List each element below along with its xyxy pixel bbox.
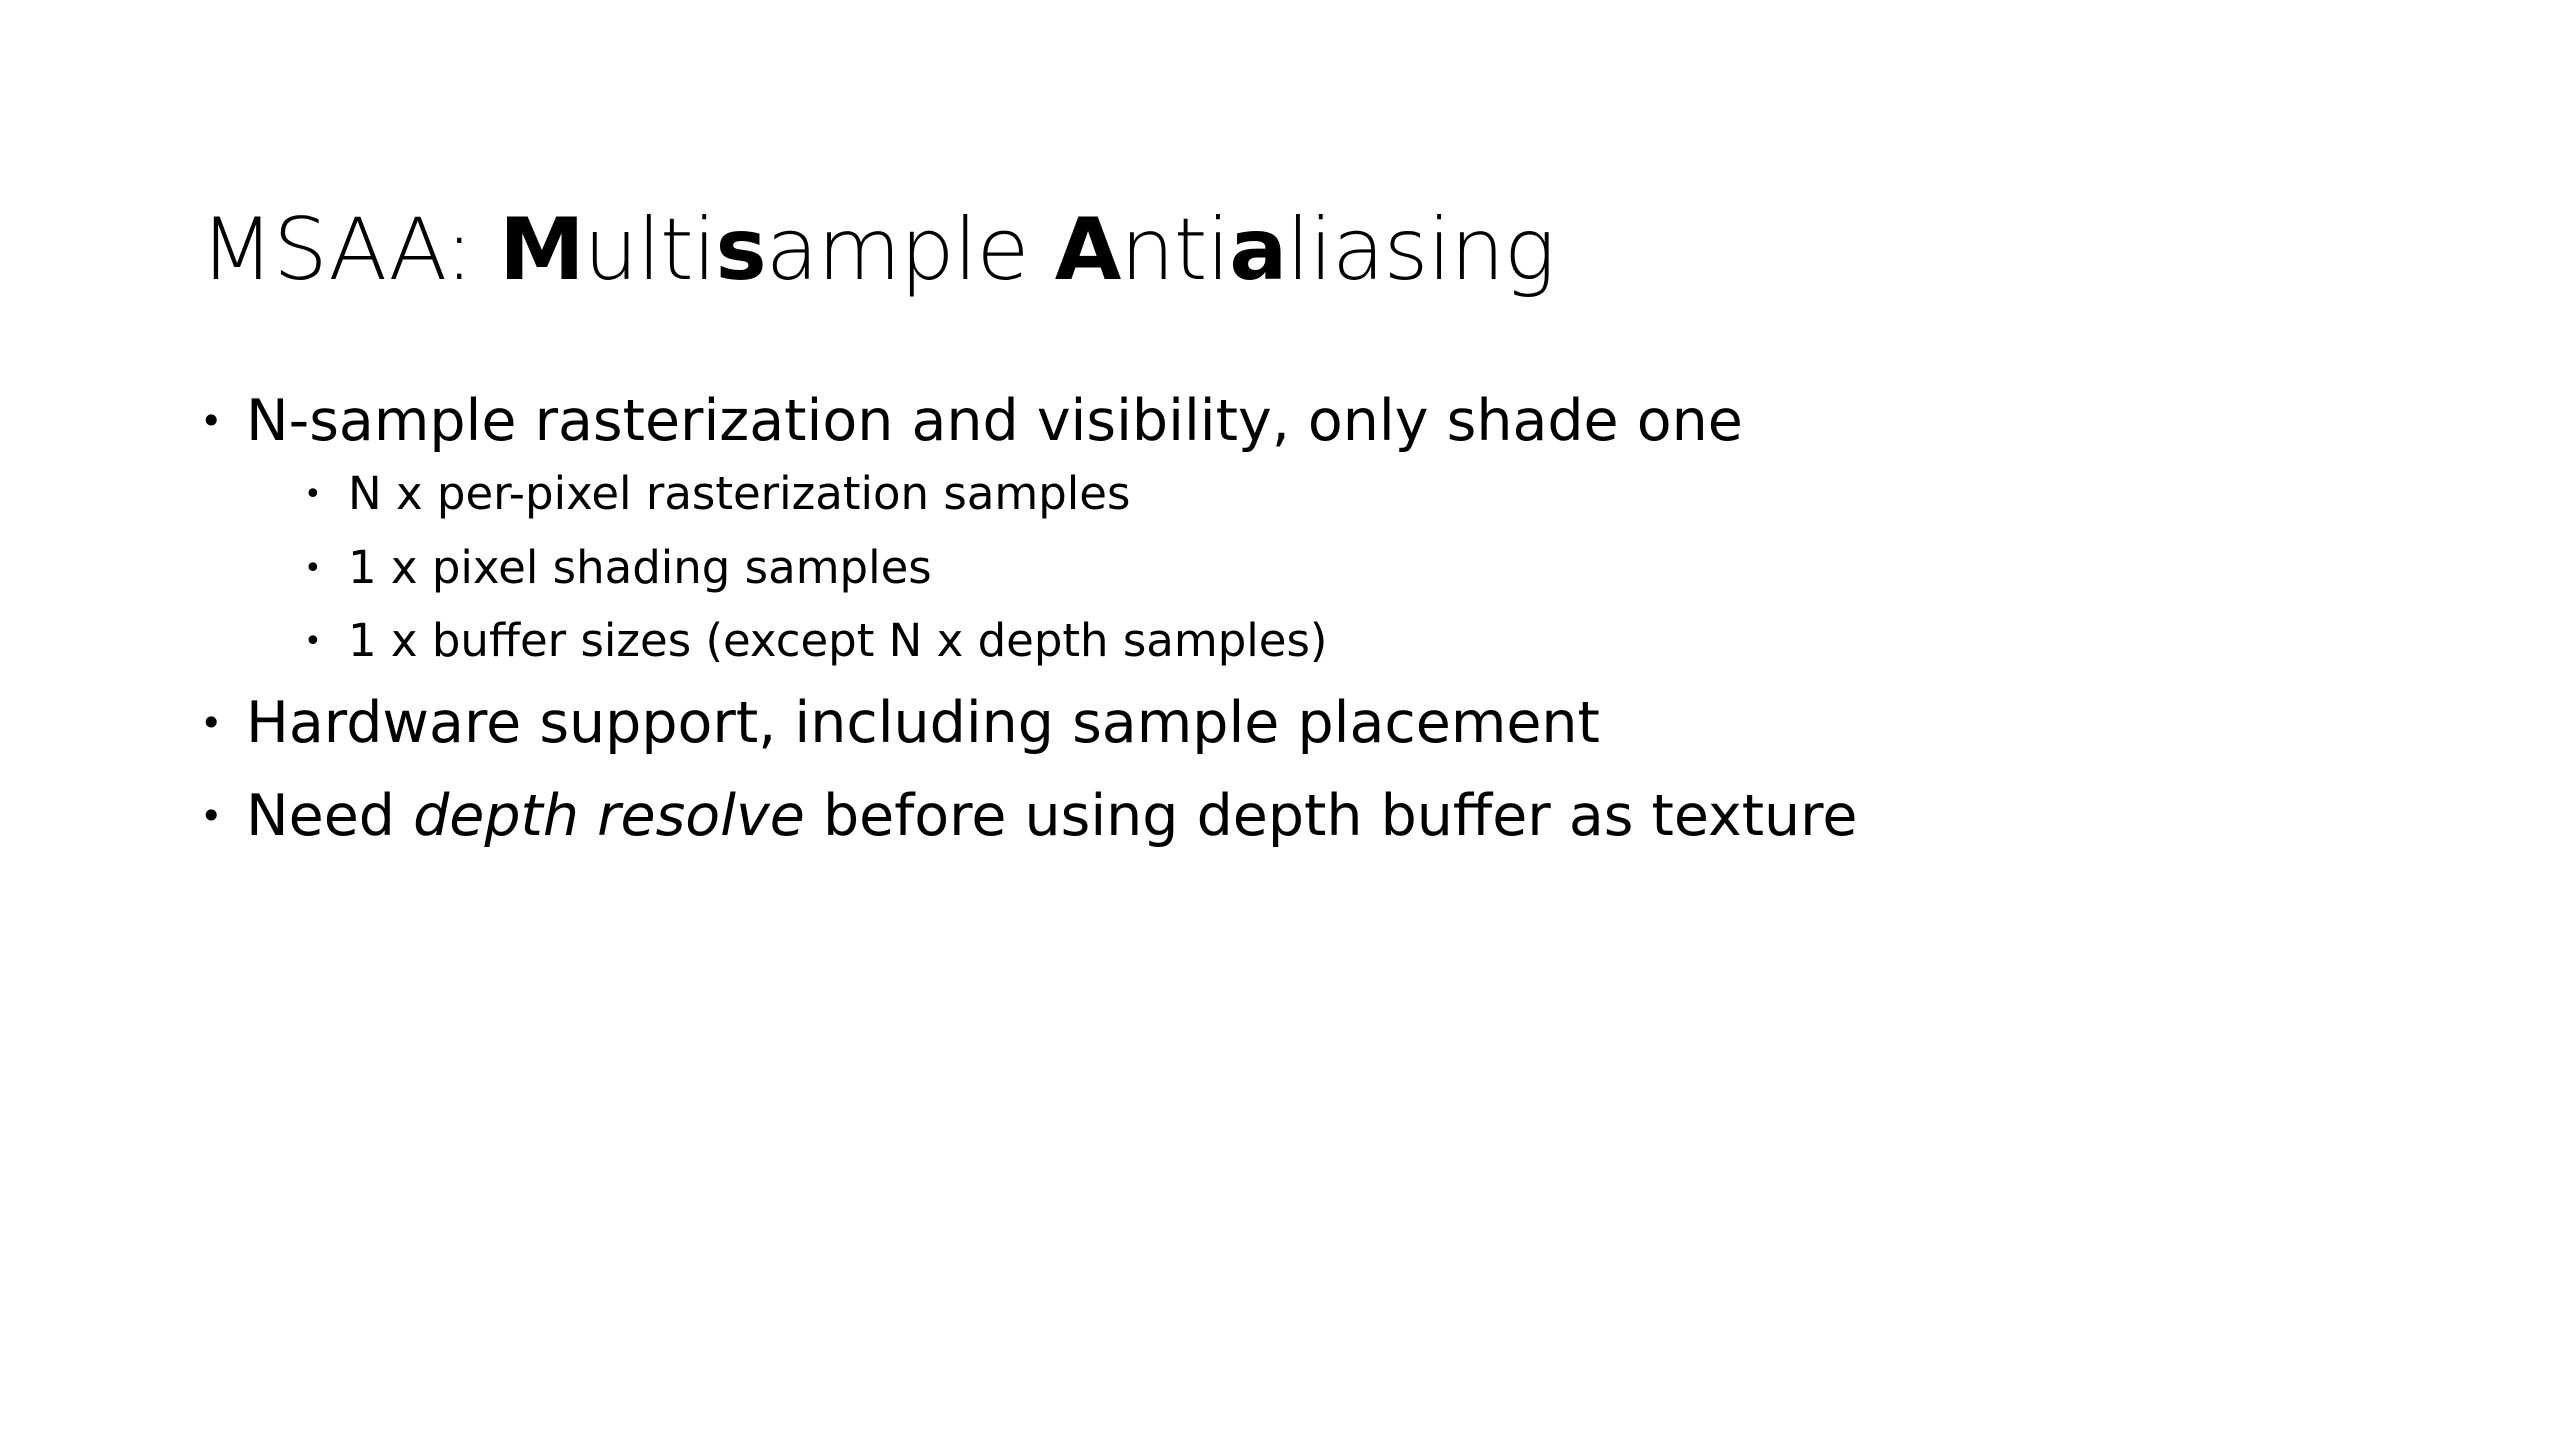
- bullet-level1-item: • Hardware support, including sample pla…: [200, 690, 2450, 757]
- title-run-2: ulti: [584, 200, 716, 300]
- bullet-level1-item: • Need depth resolve before using depth …: [200, 783, 2450, 850]
- title-run-3: s: [716, 200, 766, 300]
- title-run-0: MSAA:: [200, 200, 499, 300]
- slide-title: MSAA: Multisample Antialiasing: [200, 201, 2400, 299]
- bullet-text-rich: Need depth resolve before using depth bu…: [246, 783, 2450, 850]
- bullet-marker-icon: •: [200, 690, 246, 757]
- bullet-level2-item: • N x per-pixel rasterization samples: [304, 469, 2450, 521]
- bullet-marker-icon: •: [304, 616, 348, 668]
- bullet-run-normal-1: before using depth buffer as texture: [805, 783, 1858, 849]
- title-run-1: M: [499, 200, 584, 300]
- bullet-text: Hardware support, including sample place…: [246, 690, 2450, 757]
- bullet-run-italic: depth resolve: [413, 783, 805, 849]
- bullet-marker-icon: •: [304, 543, 348, 595]
- title-run-7: a: [1229, 200, 1286, 300]
- bullet-text: 1 x pixel shading samples: [348, 543, 2450, 593]
- bullet-marker-icon: •: [200, 783, 246, 850]
- bullet-level2-group: • N x per-pixel rasterization samples • …: [200, 469, 2450, 668]
- bullet-text: N x per-pixel rasterization samples: [348, 469, 2450, 519]
- bullet-level1-item: • N-sample rasterization and visibility,…: [200, 388, 2450, 455]
- bullet-marker-icon: •: [304, 469, 348, 521]
- slide-canvas: MSAA: Multisample Antialiasing • N-sampl…: [0, 0, 2560, 1440]
- title-run-5: A: [1055, 200, 1121, 300]
- bullet-run-normal-0: Need: [246, 783, 413, 849]
- slide-body: • N-sample rasterization and visibility,…: [200, 388, 2450, 855]
- bullet-level2-item: • 1 x buffer sizes (except N x depth sam…: [304, 616, 2450, 668]
- title-run-6: nti: [1120, 200, 1229, 300]
- bullet-marker-icon: •: [200, 388, 246, 455]
- title-run-8: liasing: [1286, 200, 1554, 300]
- bullet-text: N-sample rasterization and visibility, o…: [246, 388, 2450, 455]
- bullet-level2-item: • 1 x pixel shading samples: [304, 543, 2450, 595]
- bullet-text: 1 x buffer sizes (except N x depth sampl…: [348, 616, 2450, 666]
- title-run-4: ample: [766, 200, 1055, 300]
